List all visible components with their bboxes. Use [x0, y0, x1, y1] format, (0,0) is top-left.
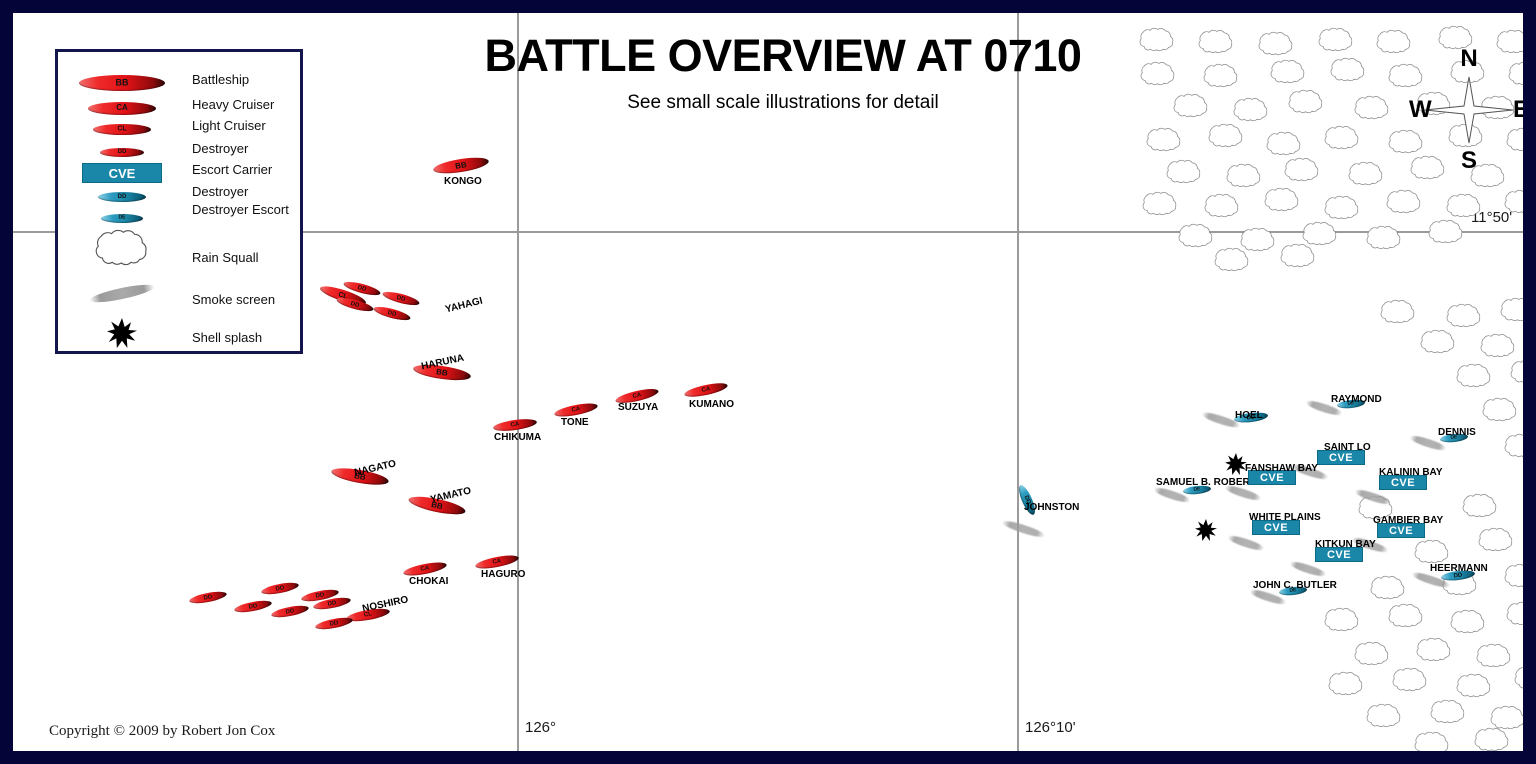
ship-name-label: KONGO	[444, 176, 482, 187]
compass-north-label: N	[1460, 45, 1477, 73]
shell-splash-icon	[1225, 453, 1247, 480]
legend-hull-DD: DD	[98, 192, 146, 202]
rain-squall-cloud	[1423, 217, 1469, 253]
rain-squall-cloud	[1193, 27, 1239, 63]
copyright-notice: Copyright © 2009 by Robert Jon Cox	[49, 723, 275, 740]
rain-squall-cloud	[1209, 245, 1255, 281]
legend-label-destroyer-oval: Destroyer	[192, 141, 248, 157]
rain-squall-cloud	[1451, 361, 1497, 397]
ship-class-code: CVE	[1327, 549, 1351, 561]
rain-squall-cloud	[1457, 491, 1503, 527]
legend-symbol-battleship-oval: BB	[58, 72, 186, 94]
ship-name-label: SAINT LO	[1324, 442, 1371, 453]
ship-name-label: SUZUYA	[618, 402, 658, 413]
rain-squall-cloud	[1283, 87, 1329, 123]
rain-squall-cloud	[1509, 663, 1523, 699]
legend-smoke-icon	[89, 281, 156, 305]
ship-symbol-kongo: BB	[432, 155, 489, 177]
ship-symbol-chikuma: CA	[493, 417, 538, 433]
battle-map-frame: 11°50' 126° 126°10' BBKONGOCLYAHAGIBBHAR…	[0, 0, 1536, 764]
hull-CA: CA	[683, 381, 728, 400]
hull-DD: DD	[372, 304, 411, 323]
ship-name-label: FANSHAW BAY	[1245, 463, 1318, 474]
rain-squall-cloud	[1415, 327, 1461, 363]
compass-east-label: E	[1513, 96, 1523, 124]
legend-symbol-shell-splash-star	[58, 320, 186, 350]
ship-symbol-destroyer: DD	[372, 304, 411, 323]
ship-symbol-kumano: CA	[683, 381, 728, 400]
rain-squall-cloud	[1275, 241, 1321, 277]
legend-hull-CA: CA	[88, 102, 156, 115]
shell-splash-icon	[1195, 519, 1217, 546]
legend-label-us-destroyer-escort-oval: Destroyer Escort	[192, 202, 289, 218]
ship-class-code: DE	[101, 216, 143, 221]
ship-name-label: TONE	[561, 417, 589, 428]
ship-name-label: HOEL	[1235, 410, 1263, 421]
hull-DD: DD	[233, 598, 272, 614]
hull-DD: DD	[188, 589, 227, 605]
ship-name-label: YAHAGI	[444, 296, 484, 316]
legend-cve-box: CVE	[82, 163, 162, 183]
ship-name-label: JOHNSTON	[1024, 502, 1079, 513]
rain-squall-cloud	[1505, 357, 1523, 393]
compass-west-label: W	[1409, 96, 1432, 124]
gridline-longitude-126	[517, 13, 519, 751]
hull-CA: CA	[493, 417, 538, 433]
rain-squall-cloud	[1203, 121, 1249, 157]
hull-BB: BB	[432, 155, 489, 177]
rain-squall-cloud	[1469, 725, 1515, 751]
ship-name-label: WHITE PLAINS	[1249, 512, 1321, 523]
rain-squall-cloud	[1381, 187, 1427, 223]
legend-symbol-smoke-screen-streak	[58, 280, 186, 306]
ship-class-code: CA	[475, 555, 519, 569]
legend-label-us-destroyer-oval: Destroyer	[192, 184, 248, 200]
ship-class-code: CVE	[1329, 452, 1353, 464]
rain-squall-cloud	[1259, 185, 1305, 221]
ship-class-code: DD	[315, 617, 353, 630]
legend-symbol-light-cruiser-oval: CL	[58, 118, 186, 140]
smoke-screen-white-plains	[1227, 533, 1266, 552]
ship-name-label: KALININ BAY	[1379, 467, 1443, 478]
ship-name-label: KITKUN BAY	[1315, 539, 1376, 550]
legend-label-shell-splash-star: Shell splash	[192, 330, 262, 346]
compass-south-label: S	[1461, 147, 1477, 175]
ship-name-label: RAYMOND	[1331, 394, 1382, 405]
ship-class-code: CA	[554, 403, 598, 417]
rain-squall-cloud	[1319, 123, 1365, 159]
legend-hull-DE: DE	[101, 214, 143, 223]
rain-squall-cloud	[1137, 189, 1183, 225]
title-block: BATTLE OVERVIEW AT 0710 See small scale …	[443, 33, 1123, 114]
ship-class-code: BB	[433, 157, 490, 174]
rain-squall-cloud	[1319, 605, 1365, 641]
ship-symbol-destroyer: DD	[314, 615, 353, 631]
coord-label-longitude-left: 126°	[525, 719, 556, 736]
legend-hull-CL: CL	[93, 124, 151, 135]
rain-squall-cloud	[1425, 697, 1471, 733]
ship-class-code: DD	[100, 149, 144, 155]
legend-cloud-icon	[87, 226, 157, 277]
ship-name-label: HEERMANN	[1430, 563, 1488, 574]
legend-label-rain-squall-cloud: Rain Squall	[192, 250, 259, 266]
ship-symbol-destroyer: DD	[188, 589, 227, 605]
ship-name-label: KUMANO	[689, 399, 734, 410]
rain-squall-cloud	[1134, 25, 1180, 61]
rain-squall-cloud	[1499, 187, 1523, 223]
rain-squall-cloud	[1477, 395, 1523, 431]
rain-squall-cloud	[1361, 701, 1407, 737]
legend-symbol-heavy-cruiser-oval: CA	[58, 97, 186, 119]
ship-class-code: CVE	[1389, 525, 1413, 537]
ship-class-code: DD	[189, 591, 227, 604]
coord-label-longitude-right: 126°10'	[1025, 719, 1076, 736]
hull-DD: DD	[270, 603, 309, 619]
legend-label-escort-carrier-box: Escort Carrier	[192, 162, 272, 178]
hull-DD: DD	[260, 580, 299, 596]
rain-squall-cloud	[1323, 669, 1369, 705]
ship-class-code: DD	[382, 291, 420, 307]
ship-class-code: CL	[93, 126, 151, 133]
smoke-screen-johnston	[1001, 518, 1046, 540]
rain-squall-cloud	[1361, 223, 1407, 259]
legend-label-battleship-oval: Battleship	[192, 72, 249, 88]
ship-class-code: CVE	[1264, 522, 1288, 534]
ship-class-code: DD	[98, 194, 146, 200]
hull-DD: DD	[314, 615, 353, 631]
rain-squall-cloud	[1409, 729, 1455, 751]
ship-class-code: DD	[261, 582, 299, 595]
gridline-longitude-126-10	[1017, 13, 1019, 751]
rain-squall-cloud	[1387, 665, 1433, 701]
rain-squall-cloud	[1499, 561, 1523, 597]
ship-name-label: GAMBIER BAY	[1373, 515, 1443, 526]
smoke-screen-kitkun-bay	[1289, 559, 1328, 578]
ship-class-code: BB	[79, 79, 165, 88]
rain-squall-cloud	[1501, 599, 1523, 635]
rain-squall-cloud	[1473, 525, 1519, 561]
ship-class-code: CA	[403, 562, 447, 576]
rain-squall-cloud	[1141, 125, 1187, 161]
ship-class-code: DD	[234, 600, 272, 613]
ship-symbol-destroyer: DD	[260, 580, 299, 596]
legend-symbol-us-destroyer-oval: DD	[58, 186, 186, 208]
ship-class-code: DD	[336, 297, 374, 313]
legend-hull-BB: BB	[79, 75, 165, 91]
ship-symbol-destroyer: DD	[270, 603, 309, 619]
page-subtitle: See small scale illustrations for detail	[443, 92, 1123, 114]
hull-DD: DD	[381, 289, 420, 308]
ship-class-code: CA	[88, 104, 156, 112]
ship-name-label: CHIKUMA	[494, 432, 541, 443]
map-canvas: 11°50' 126° 126°10' BBKONGOCLYAHAGIBBHAR…	[13, 13, 1523, 751]
legend-label-smoke-screen-streak: Smoke screen	[192, 292, 275, 308]
rain-squall-cloud	[1499, 431, 1523, 467]
ship-name-label: HAGURO	[481, 569, 525, 580]
ship-symbol-destroyer: DD	[381, 289, 420, 308]
legend-splash-icon	[107, 318, 137, 353]
legend-symbol-destroyer-oval: DD	[58, 141, 186, 163]
ship-class-code: CA	[493, 419, 537, 431]
compass-star-icon	[1423, 75, 1515, 145]
rain-squall-cloud	[1135, 59, 1181, 95]
legend-symbol-escort-carrier-box: CVE	[58, 162, 186, 184]
legend-label-light-cruiser-oval: Light Cruiser	[192, 118, 266, 134]
ship-class-code: CA	[684, 382, 728, 397]
ship-name-label: JOHN C. BUTLER	[1253, 580, 1337, 591]
ship-class-code: DD	[373, 306, 411, 322]
legend-label-heavy-cruiser-oval: Heavy Cruiser	[192, 97, 274, 113]
ship-name-label: DENNIS	[1438, 427, 1476, 438]
rain-squall-cloud	[1325, 55, 1371, 91]
ship-symbol-destroyer: DD	[233, 598, 272, 614]
rain-squall-cloud	[1161, 157, 1207, 193]
ship-name-label: CHOKAI	[409, 576, 448, 587]
legend-panel: BBBattleshipCAHeavy CruiserCLLight Cruis…	[55, 49, 303, 354]
legend-symbol-rain-squall-cloud	[58, 230, 186, 272]
legend-hull-DD: DD	[100, 148, 144, 157]
compass-rose: N S W E	[1409, 45, 1523, 175]
ship-class-code: CVE	[109, 166, 136, 181]
rain-squall-cloud	[1383, 601, 1429, 637]
ship-class-code: CVE	[1391, 477, 1415, 489]
ship-class-code: DD	[271, 605, 309, 618]
rain-squall-cloud	[1495, 295, 1523, 331]
page-title: BATTLE OVERVIEW AT 0710	[443, 33, 1123, 78]
